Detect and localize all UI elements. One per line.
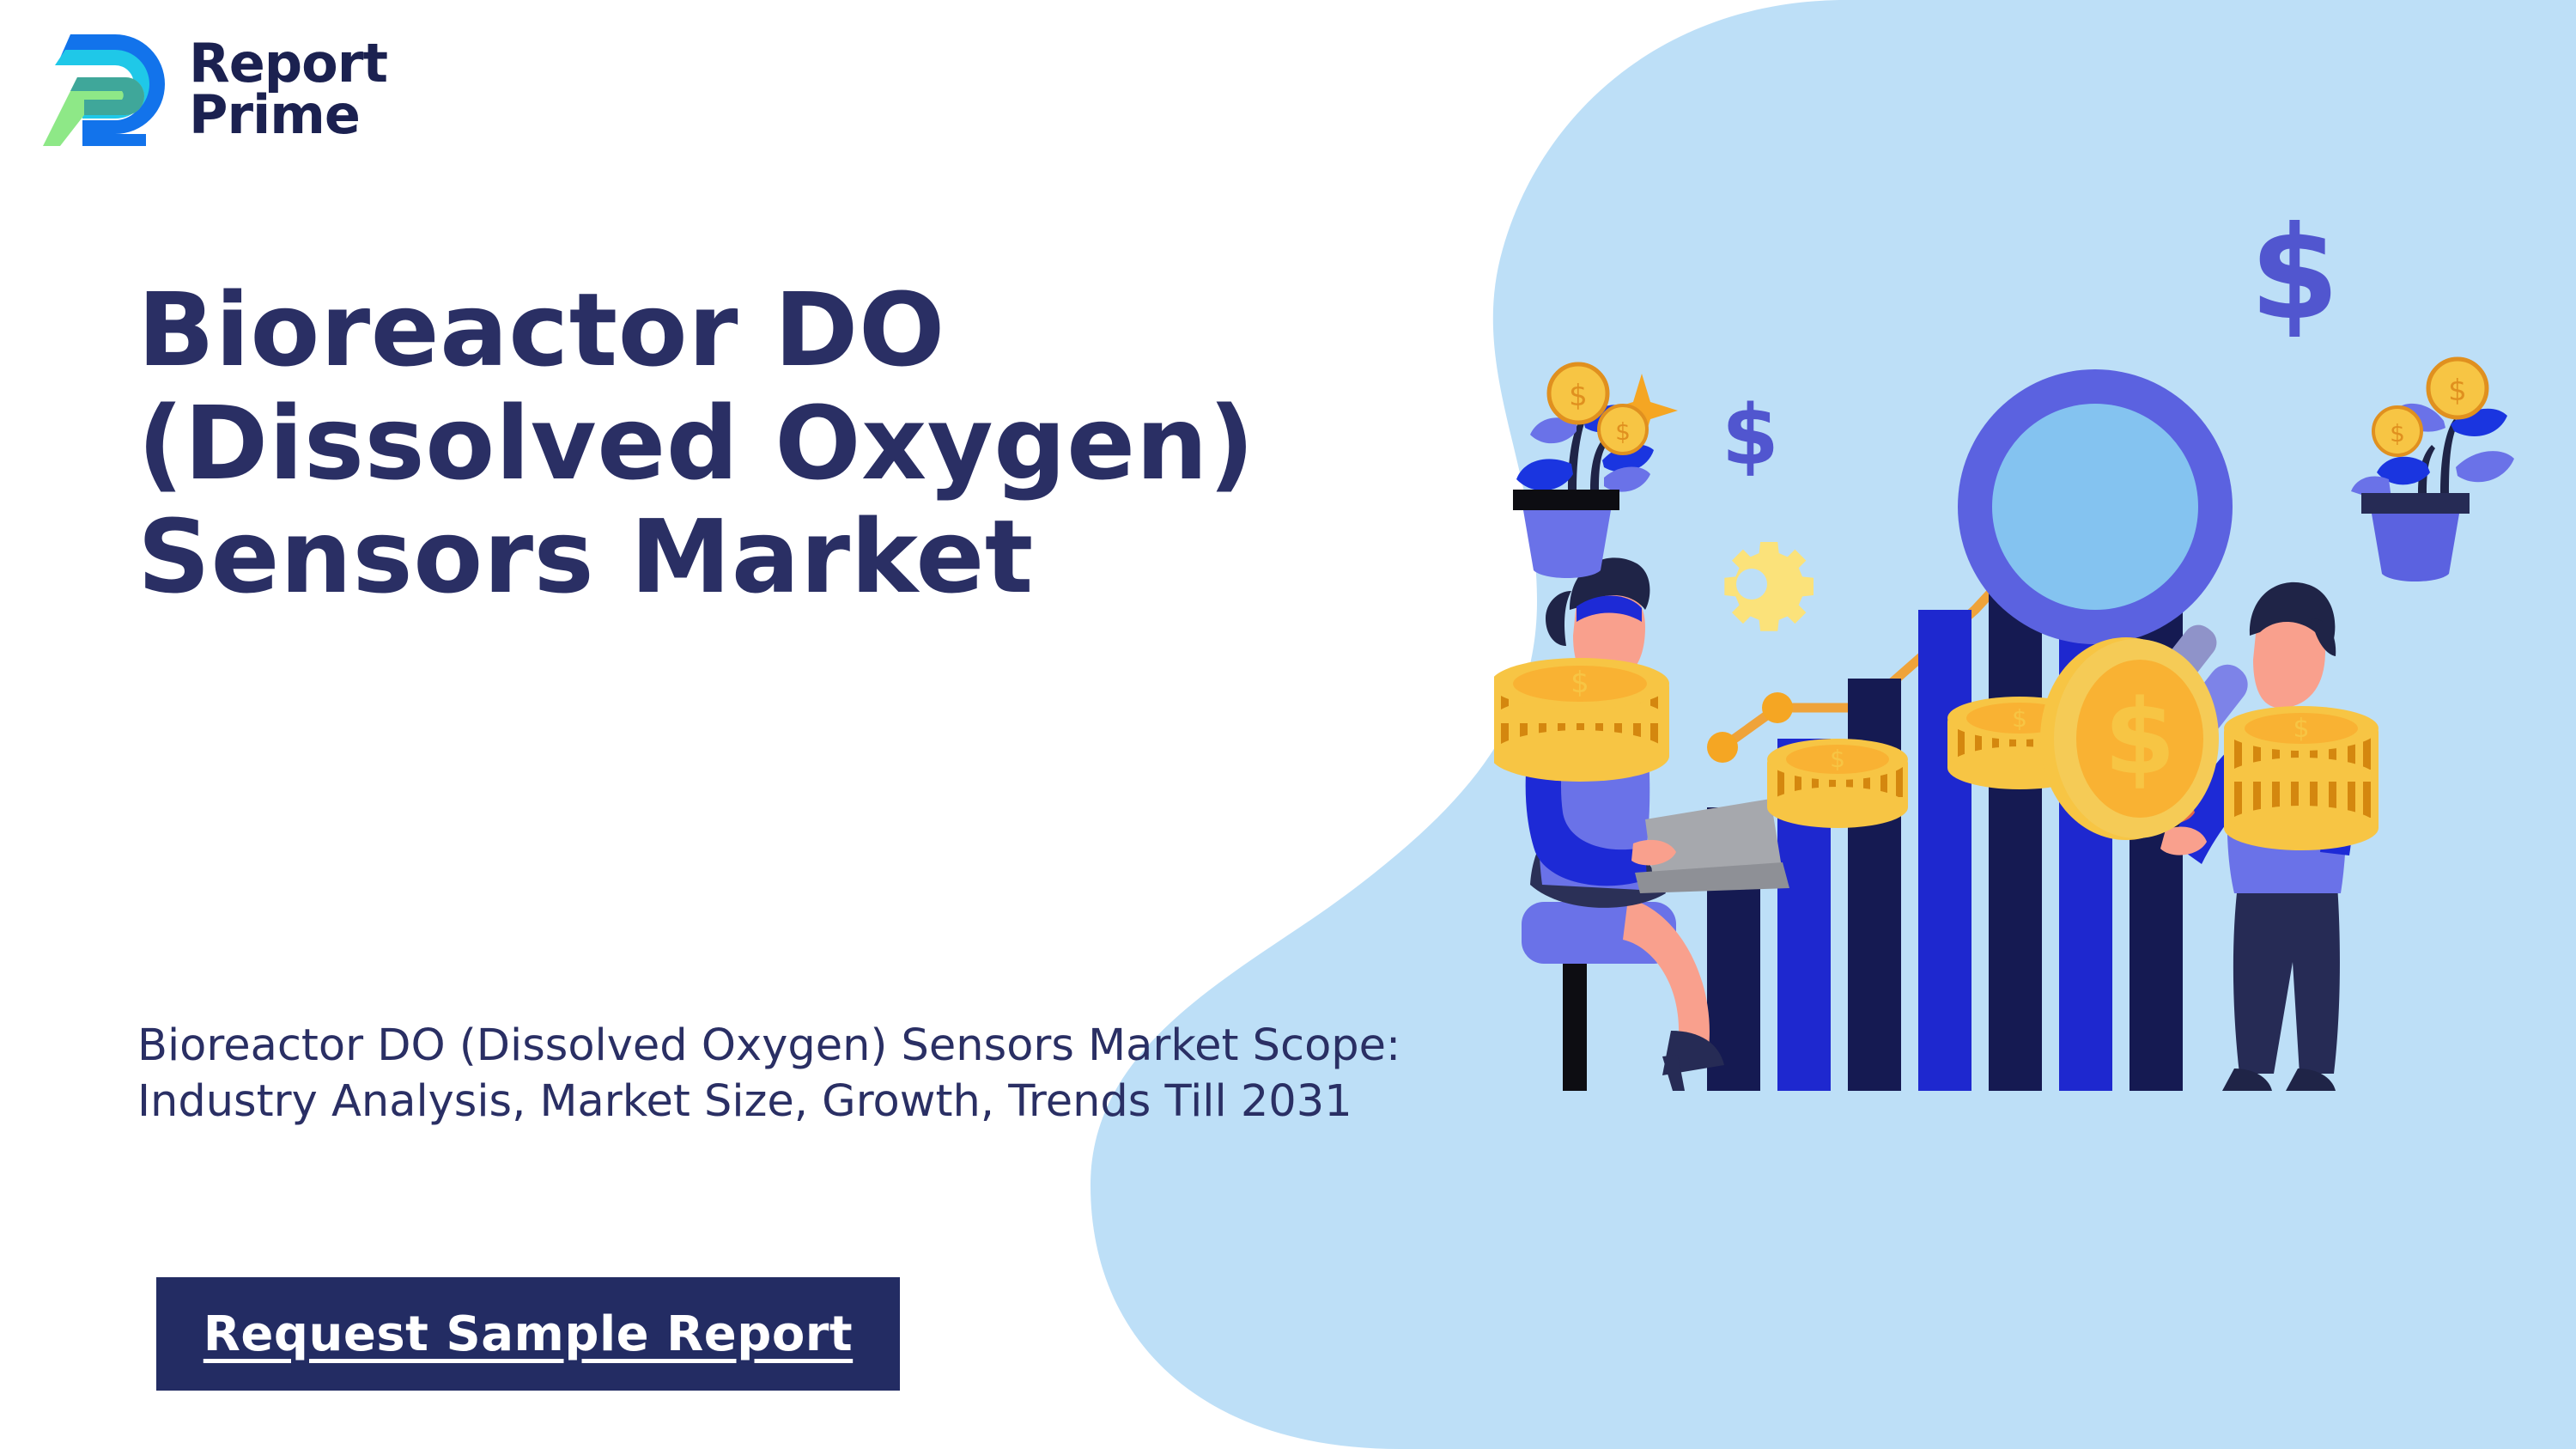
- bar-5: [1989, 558, 2042, 1091]
- svg-text:$: $: [2104, 679, 2176, 798]
- bar-4: [1918, 610, 1971, 1091]
- svg-text:$: $: [2293, 714, 2309, 744]
- svg-text:$: $: [2448, 374, 2467, 408]
- brand-name-line1: Report: [189, 38, 387, 89]
- page-subtitle: Bioreactor DO (Dissolved Oxygen) Sensors…: [137, 1018, 1546, 1130]
- dollar-sign-large: $: [2250, 206, 2339, 349]
- brand-name-line2: Prime: [189, 89, 387, 141]
- coin-standing-large: $: [2040, 637, 2219, 840]
- brand-name: Report Prime: [189, 38, 387, 140]
- dollar-sign-small: $: [1722, 387, 1779, 484]
- svg-text:$: $: [1830, 745, 1845, 773]
- coin-stack-2: $: [1767, 739, 1908, 828]
- coin-stack-1: $: [1494, 658, 1669, 782]
- svg-text:$: $: [1569, 379, 1588, 413]
- page-title: Bioreactor DO (Dissolved Oxygen) Sensors…: [137, 273, 1580, 613]
- money-plant-left: $ $: [1513, 364, 1654, 578]
- market-research-illustration: $ $: [1494, 206, 2567, 1091]
- svg-text:$: $: [1615, 417, 1631, 446]
- request-sample-report-label: Request Sample Report: [204, 1306, 853, 1362]
- report-prime-r-mark-icon: [33, 24, 170, 155]
- gear-icon: [1724, 542, 1814, 631]
- svg-text:$: $: [2390, 419, 2405, 447]
- money-plant-right: $ $: [2351, 359, 2514, 581]
- svg-text:$: $: [2012, 704, 2027, 733]
- coin-stack-4: $: [2224, 706, 2379, 850]
- poster-canvas: Report Prime Bioreactor DO (Dissolved Ox…: [0, 0, 2576, 1449]
- svg-text:$: $: [1571, 666, 1589, 700]
- request-sample-report-button[interactable]: Request Sample Report: [156, 1277, 900, 1391]
- brand-logo[interactable]: Report Prime: [33, 24, 387, 155]
